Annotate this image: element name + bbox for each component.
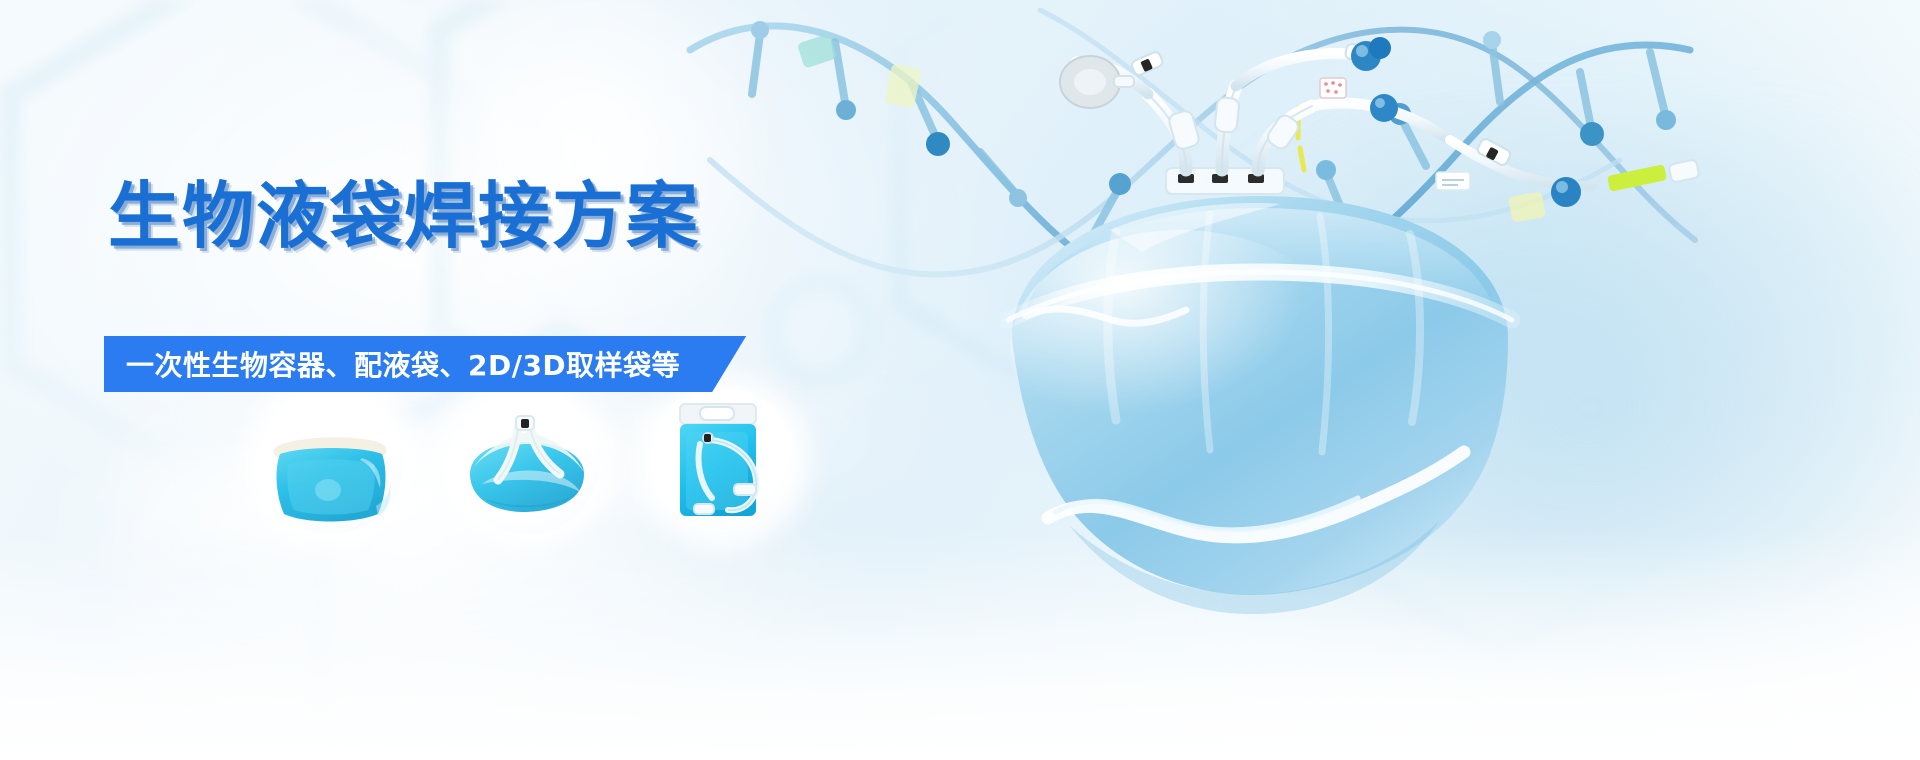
- hero-bioprocess-bag-image: [880, 20, 1840, 720]
- product-thumbnail-list: [258, 388, 796, 534]
- 2d-tubing-bag-icon: [650, 388, 796, 534]
- pillow-liquid-bag-icon: [258, 388, 404, 534]
- tubing-manifold: [1060, 37, 1700, 207]
- page-title: 生物液袋焊接方案: [108, 180, 700, 252]
- 3d-sampling-bag-icon: [454, 388, 600, 534]
- product-hero-banner: 生物液袋焊接方案 一次性生物容器、配液袋、2D/3D取样袋等: [0, 0, 1920, 760]
- subtitle-banner: 一次性生物容器、配液袋、2D/3D取样袋等: [104, 336, 746, 392]
- product-thumb-pillow-liquid-bag[interactable]: [258, 388, 404, 534]
- filter-disc: [1060, 56, 1134, 108]
- headline-group: 生物液袋焊接方案: [108, 180, 700, 252]
- product-thumb-3d-sampling-bag[interactable]: [454, 388, 600, 534]
- bag-body: [1008, 196, 1512, 614]
- subtitle-text: 一次性生物容器、配液袋、2D/3D取样袋等: [126, 344, 680, 384]
- product-thumb-2d-tubing-bag[interactable]: [650, 388, 796, 534]
